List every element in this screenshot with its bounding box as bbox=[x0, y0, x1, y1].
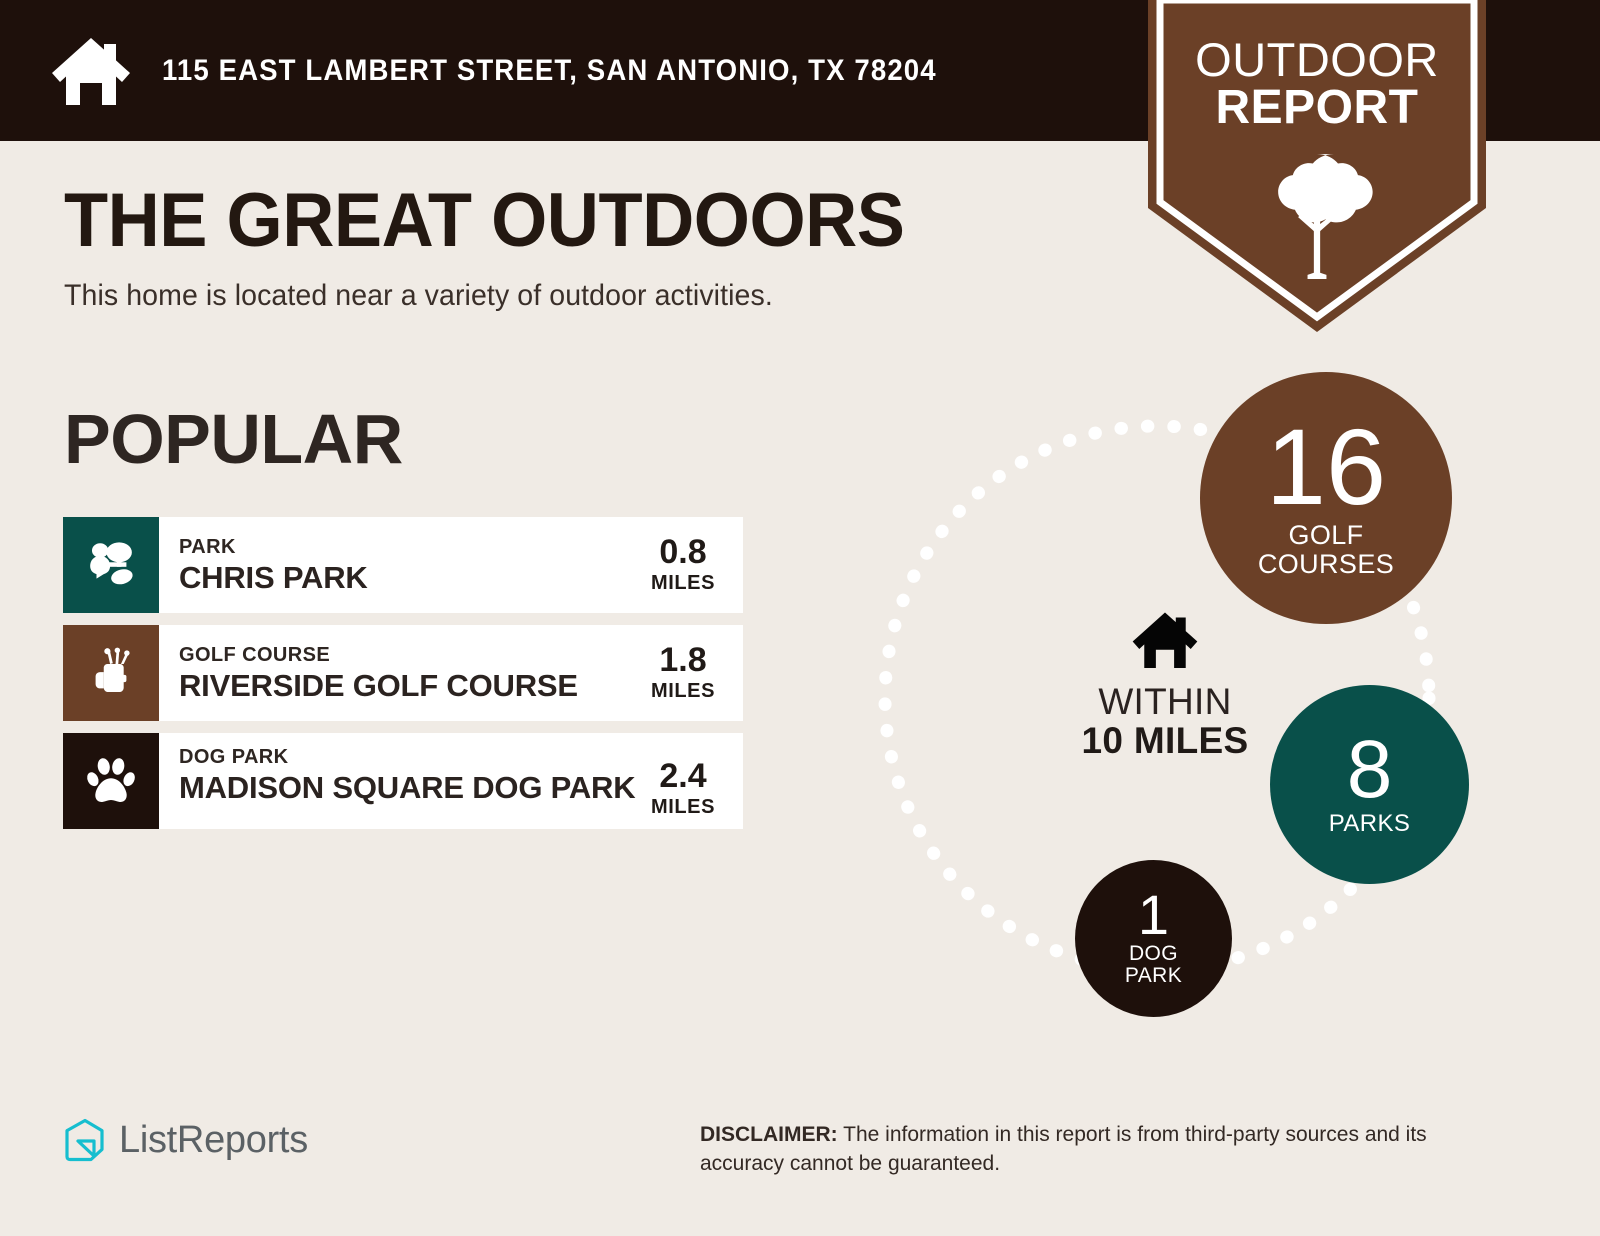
stat-label-dog-line1: DOG bbox=[1129, 943, 1178, 965]
list-item[interactable]: DOG PARK MADISON SQUARE DOG PARK 2.4 MIL… bbox=[63, 733, 743, 829]
row-texts: PARK CHRIS PARK bbox=[179, 535, 641, 594]
diagram-center: WITHIN 10 MILES bbox=[1055, 610, 1275, 760]
row-distance-unit: MILES bbox=[641, 680, 725, 703]
row-icon-tile-park bbox=[63, 517, 159, 613]
row-distance-unit: MILES bbox=[641, 572, 725, 595]
listreports-logo[interactable]: ListReports bbox=[64, 1118, 308, 1162]
row-name: MADISON SQUARE DOG PARK bbox=[179, 771, 641, 804]
page-title: THE GREAT OUTDOORS bbox=[64, 183, 1033, 259]
stat-circle-dog-park[interactable]: 1 DOG PARK bbox=[1075, 860, 1232, 1017]
list-item[interactable]: PARK CHRIS PARK 0.8 MILES bbox=[63, 517, 743, 613]
row-distance: 2.4 MILES bbox=[641, 759, 725, 819]
stat-value-golf: 16 bbox=[1266, 418, 1386, 515]
popular-list: PARK CHRIS PARK 0.8 MILES bbox=[63, 517, 743, 841]
row-distance-unit: MILES bbox=[641, 796, 725, 819]
row-name: CHRIS PARK bbox=[179, 561, 641, 594]
within-label: WITHIN bbox=[1055, 683, 1275, 722]
stat-circle-parks[interactable]: 8 PARKS bbox=[1270, 685, 1469, 884]
stat-label-dog-line2: PARK bbox=[1125, 965, 1182, 987]
row-distance-value: 0.8 bbox=[641, 535, 725, 569]
row-category: DOG PARK bbox=[179, 745, 641, 769]
list-item[interactable]: GOLF COURSE RIVERSIDE GOLF COURSE 1.8 MI… bbox=[63, 625, 743, 721]
stat-label-golf-line1: GOLF bbox=[1288, 521, 1363, 550]
header-address: 115 EAST LAMBERT STREET, SAN ANTONIO, TX… bbox=[162, 54, 937, 88]
stat-label-golf-line2: COURSES bbox=[1258, 550, 1394, 579]
home-icon bbox=[50, 35, 132, 107]
popular-heading: POPULAR bbox=[64, 404, 403, 474]
row-distance: 0.8 MILES bbox=[641, 535, 725, 595]
row-icon-tile-golf bbox=[63, 625, 159, 721]
listreports-logo-text: ListReports bbox=[119, 1119, 308, 1162]
row-category: PARK bbox=[179, 535, 641, 559]
row-texts: GOLF COURSE RIVERSIDE GOLF COURSE bbox=[179, 643, 641, 702]
stat-label-parks: PARKS bbox=[1329, 811, 1411, 836]
disclaimer: DISCLAIMER: The information in this repo… bbox=[700, 1120, 1510, 1179]
stat-value-parks: 8 bbox=[1347, 733, 1393, 807]
row-name: RIVERSIDE GOLF COURSE bbox=[179, 669, 641, 702]
row-body: GOLF COURSE RIVERSIDE GOLF COURSE 1.8 MI… bbox=[159, 625, 743, 721]
row-category: GOLF COURSE bbox=[179, 643, 641, 667]
row-distance-value: 2.4 bbox=[641, 759, 725, 793]
row-distance: 1.8 MILES bbox=[641, 643, 725, 703]
stat-circle-golf-courses[interactable]: 16 GOLF COURSES bbox=[1200, 372, 1452, 624]
golf-bag-icon bbox=[82, 644, 140, 702]
row-icon-tile-dog-park bbox=[63, 733, 159, 829]
proximity-diagram: 16 GOLF COURSES 8 PARKS 1 DOG PARK WITHI… bbox=[820, 350, 1520, 1070]
disclaimer-label: DISCLAIMER: bbox=[700, 1123, 838, 1146]
row-texts: DOG PARK MADISON SQUARE DOG PARK bbox=[179, 745, 641, 804]
intro-block: THE GREAT OUTDOORS This home is located … bbox=[64, 183, 1084, 313]
outdoor-report-badge: OUTDOOR REPORT bbox=[1130, 0, 1504, 338]
within-distance: 10 MILES bbox=[1055, 722, 1275, 761]
row-body: PARK CHRIS PARK 0.8 MILES bbox=[159, 517, 743, 613]
home-icon bbox=[1131, 610, 1199, 668]
park-trees-icon bbox=[82, 536, 140, 594]
stat-value-dog-park: 1 bbox=[1138, 890, 1169, 940]
page-subtitle: This home is located near a variety of o… bbox=[64, 279, 1033, 313]
listreports-house-icon bbox=[64, 1118, 106, 1162]
paw-print-icon bbox=[82, 752, 140, 810]
row-body: DOG PARK MADISON SQUARE DOG PARK 2.4 MIL… bbox=[159, 733, 743, 829]
row-distance-value: 1.8 bbox=[641, 643, 725, 677]
